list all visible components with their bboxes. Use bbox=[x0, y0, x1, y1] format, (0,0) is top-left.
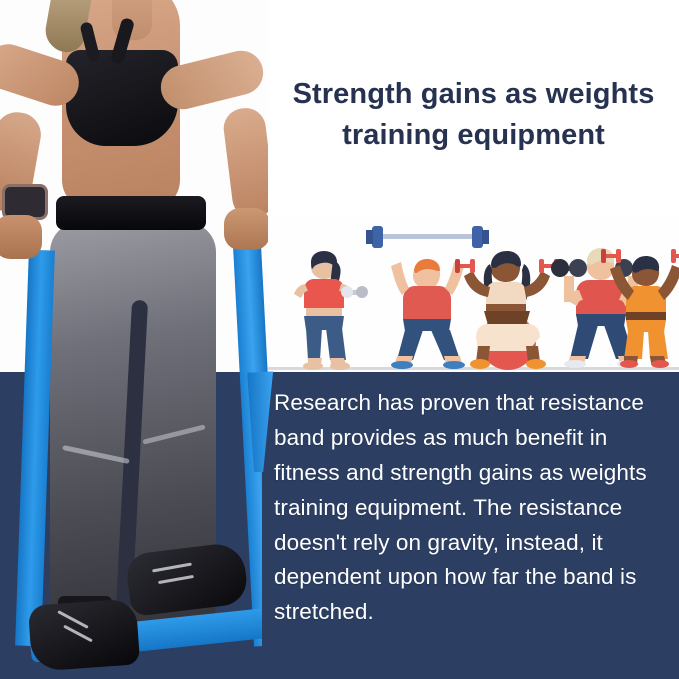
dumbbell-icon bbox=[455, 259, 475, 273]
exercise-illustration-strip bbox=[268, 214, 679, 374]
model-right-forearm bbox=[221, 106, 268, 220]
product-marketing-image: Strength gains as weights training equip… bbox=[0, 0, 679, 679]
model-photo bbox=[0, 0, 268, 679]
headline: Strength gains as weights training equip… bbox=[268, 74, 679, 156]
description-text: Research has proven that resistance band… bbox=[262, 372, 679, 630]
model-right-hand bbox=[224, 208, 268, 250]
sports-bra bbox=[66, 50, 178, 146]
description-panel: Research has proven that resistance band… bbox=[262, 372, 679, 679]
resistance-band-left-strand bbox=[15, 250, 55, 647]
model-left-hand bbox=[0, 215, 42, 259]
dumbbell-icon bbox=[671, 249, 679, 263]
figure-woman-arms-raised-dumbbells bbox=[598, 238, 679, 370]
headline-line-2: training equipment bbox=[268, 115, 679, 156]
model-figure bbox=[0, 0, 268, 679]
figure-woman-with-dumbbell bbox=[284, 248, 370, 370]
dumbbell-icon bbox=[551, 259, 587, 277]
dumbbell-icon bbox=[601, 249, 621, 263]
headline-line-1: Strength gains as weights bbox=[268, 74, 679, 115]
legging-waistband bbox=[56, 196, 206, 230]
